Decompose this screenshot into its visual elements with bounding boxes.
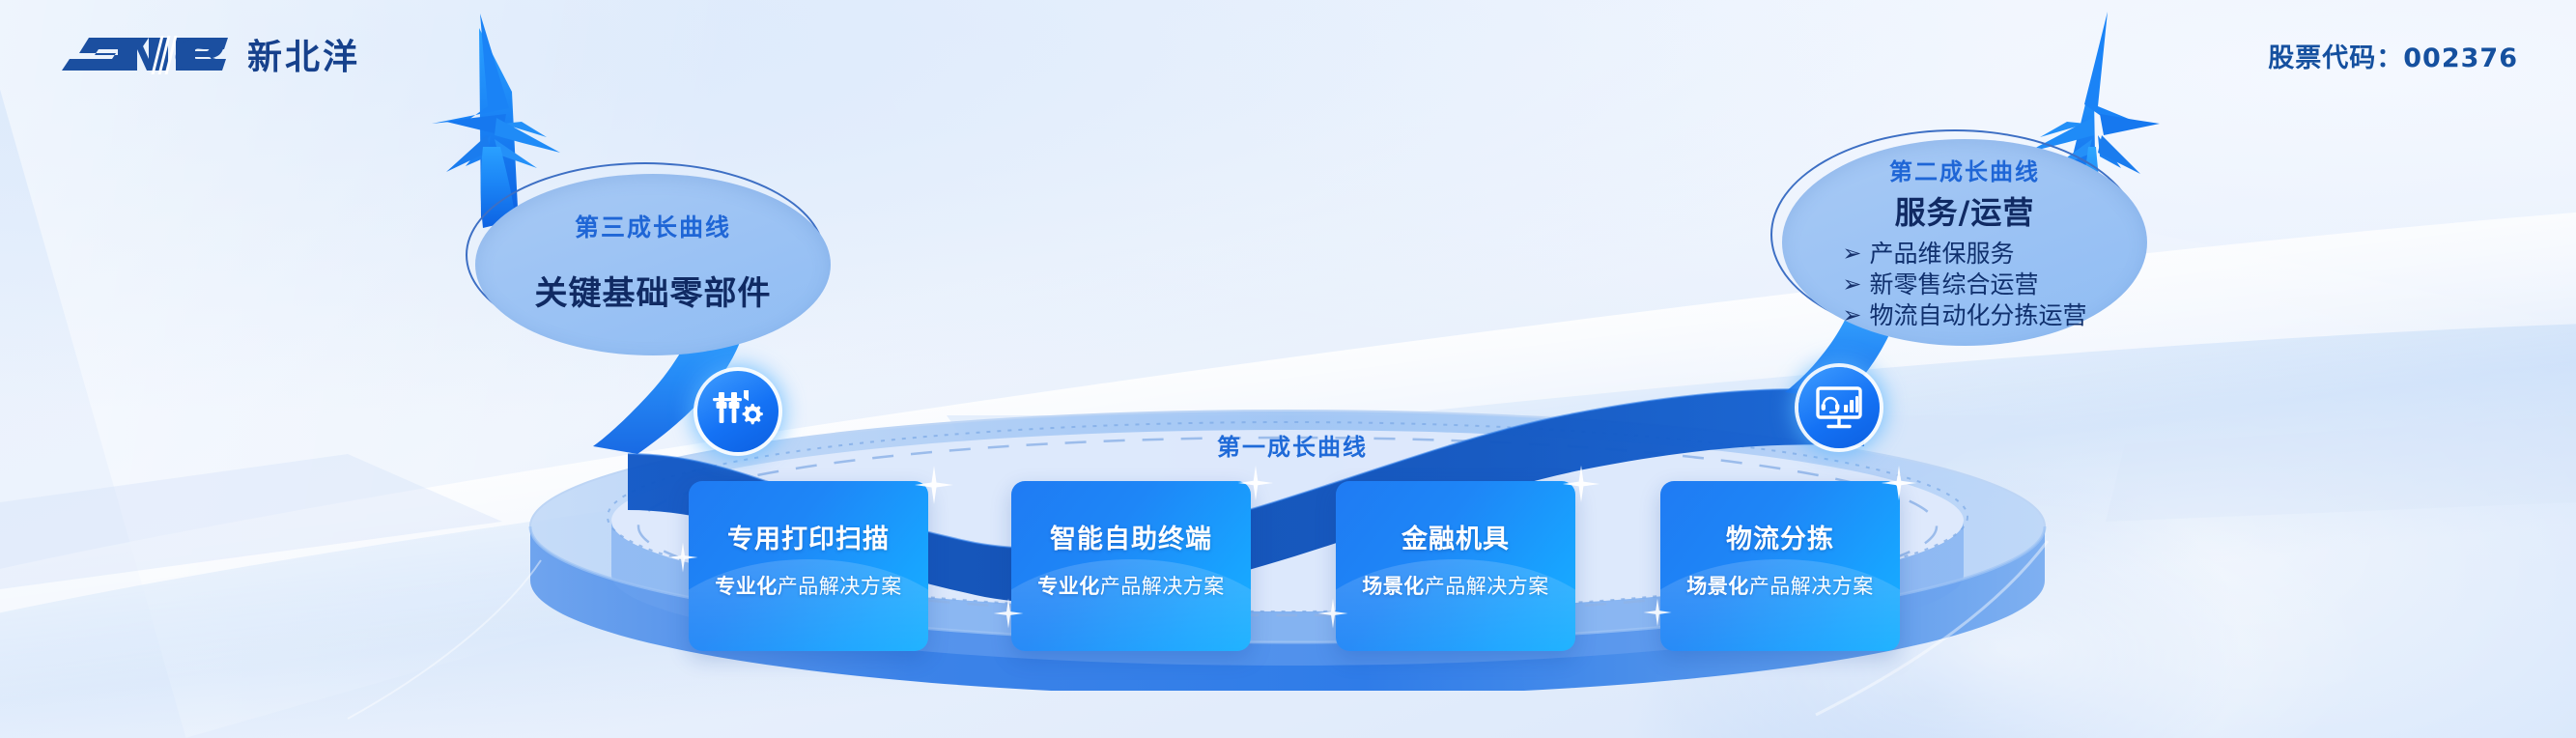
- card-subtitle-rest: 产品解决方案: [1749, 575, 1874, 598]
- list-item: ➢ 物流自动化分拣运营: [1843, 300, 2087, 331]
- bubble-second-growth-curve[interactable]: 第二成长曲线 服务/运营 ➢ 产品维保服务 ➢ 新零售综合运营 ➢ 物流自动化分…: [1782, 139, 2147, 346]
- list-item-label: 物流自动化分拣运营: [1869, 300, 2086, 331]
- first-growth-curve-label: 第一成长曲线: [1217, 428, 1368, 462]
- bullet-arrow-icon: ➢: [1843, 273, 1862, 297]
- third-curve-title: 关键基础零部件: [475, 267, 831, 314]
- card-subtitle: 场景化产品解决方案: [1362, 571, 1549, 600]
- card-subtitle: 场景化产品解决方案: [1686, 571, 1874, 600]
- product-card-financial-equipment[interactable]: 金融机具 场景化产品解决方案: [1336, 481, 1575, 651]
- card-title: 物流分拣: [1726, 518, 1834, 555]
- second-curve-subtitle: 第二成长曲线: [1782, 153, 2147, 186]
- product-card-logistics-sorting[interactable]: 物流分拣 场景化产品解决方案: [1660, 481, 1900, 651]
- second-curve-item-list: ➢ 产品维保服务 ➢ 新零售综合运营 ➢ 物流自动化分拣运营: [1843, 239, 2087, 331]
- bullet-arrow-icon: ➢: [1843, 242, 1862, 266]
- card-subtitle-strong: 场景化: [1686, 575, 1749, 598]
- bubble-third-growth-curve[interactable]: 第三成长曲线 关键基础零部件: [475, 174, 831, 355]
- brand-logo: 新北洋: [56, 29, 360, 79]
- card-title: 智能自助终端: [1050, 518, 1212, 555]
- third-curve-subtitle: 第三成长曲线: [475, 209, 831, 243]
- monitor-headset-chart-icon-badge[interactable]: [1798, 367, 1880, 448]
- card-subtitle-strong: 专业化: [715, 575, 778, 598]
- product-card-self-service-terminal[interactable]: 智能自助终端 专业化产品解决方案: [1011, 481, 1251, 651]
- card-title: 专用打印扫描: [727, 518, 890, 555]
- product-card-printing-scanning[interactable]: 专用打印扫描 专业化产品解决方案: [689, 481, 928, 651]
- second-curve-title: 服务/运营: [1782, 188, 2147, 233]
- scene-graphics: [0, 0, 2576, 738]
- card-subtitle-rest: 产品解决方案: [1100, 575, 1225, 598]
- bullet-arrow-icon: ➢: [1843, 304, 1862, 327]
- list-item-label: 新零售综合运营: [1869, 270, 2038, 300]
- sliders-gear-icon: [713, 386, 763, 437]
- list-item-label: 产品维保服务: [1869, 239, 2014, 270]
- card-subtitle: 专业化产品解决方案: [715, 571, 902, 600]
- card-subtitle-rest: 产品解决方案: [778, 575, 902, 598]
- card-subtitle-strong: 场景化: [1362, 575, 1425, 598]
- card-subtitle: 专业化产品解决方案: [1037, 571, 1225, 600]
- snbc-logo-icon: [56, 30, 232, 78]
- card-title: 金融机具: [1401, 518, 1510, 555]
- card-subtitle-rest: 产品解决方案: [1425, 575, 1549, 598]
- list-item: ➢ 产品维保服务: [1843, 239, 2087, 270]
- infographic-canvas: 新北洋 股票代码：002376 第一成长曲线 第三成长曲线 关键基础零部件 第二…: [0, 0, 2576, 738]
- monitor-headset-chart-icon: [1814, 384, 1864, 431]
- brand-name-cn: 新北洋: [247, 29, 360, 79]
- stock-code-label: 股票代码：002376: [2268, 37, 2518, 74]
- card-subtitle-strong: 专业化: [1037, 575, 1100, 598]
- list-item: ➢ 新零售综合运营: [1843, 270, 2087, 300]
- sliders-gear-icon-badge[interactable]: [697, 371, 778, 452]
